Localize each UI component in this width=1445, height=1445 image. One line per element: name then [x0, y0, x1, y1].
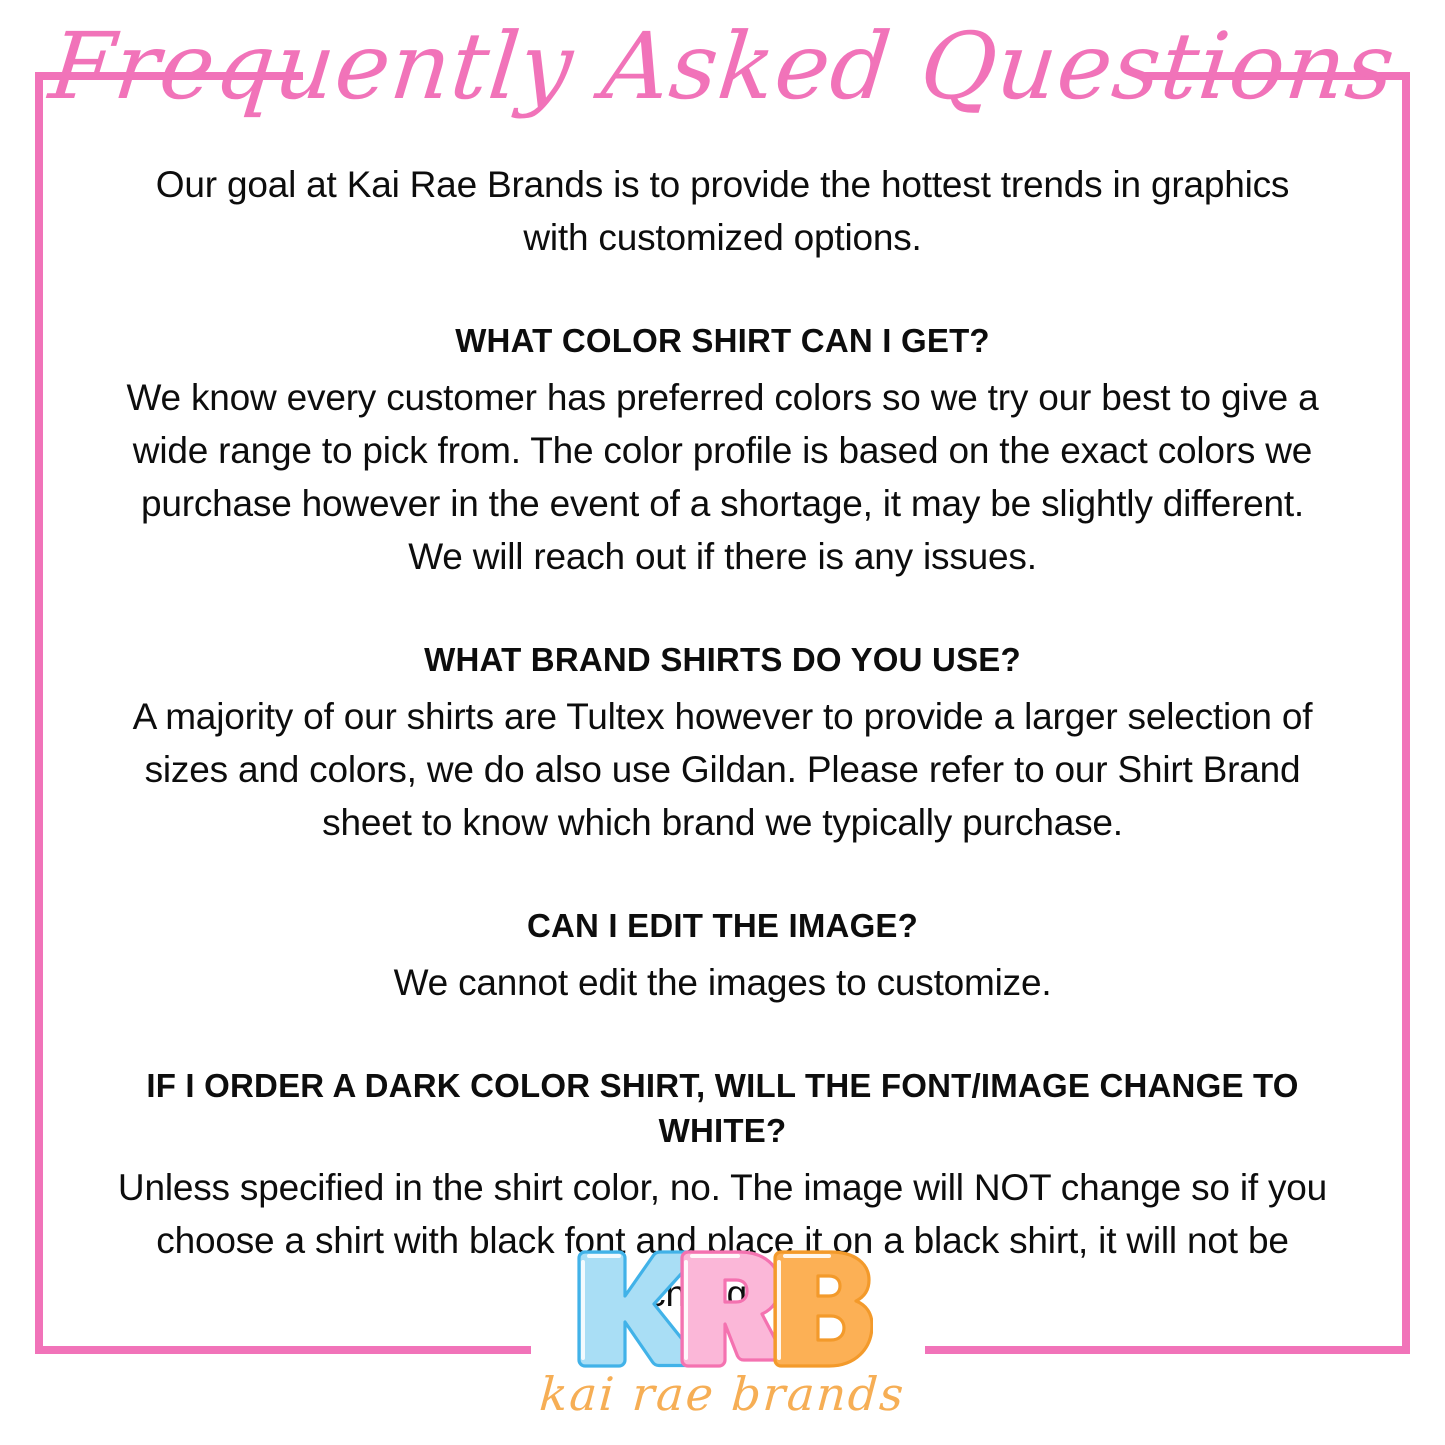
page-title: Frequently Asked Questions — [0, 8, 1445, 126]
faq-question: WHAT COLOR SHIRT CAN I GET? — [108, 318, 1338, 363]
frame-left-segment — [35, 72, 43, 1354]
faq-question: WHAT BRAND SHIRTS DO YOU USE? — [108, 637, 1338, 682]
frame-right-segment — [1402, 72, 1410, 1354]
faq-content: Our goal at Kai Rae Brands is to provide… — [90, 158, 1355, 1320]
brand-logo: kai rae brands — [0, 1246, 1445, 1422]
faq-question: IF I ORDER A DARK COLOR SHIRT, WILL THE … — [108, 1063, 1338, 1153]
brand-tagline: kai rae brands — [0, 1366, 1445, 1422]
faq-answer: We cannot edit the images to customize. — [115, 956, 1330, 1009]
faq-answer: A majority of our shirts are Tultex howe… — [115, 690, 1330, 849]
faq-item-1: WHAT COLOR SHIRT CAN I GET? We know ever… — [90, 318, 1355, 583]
logo-letter-r-icon — [682, 1252, 784, 1366]
logo-letter-b-icon — [775, 1252, 872, 1366]
intro-paragraph: Our goal at Kai Rae Brands is to provide… — [133, 158, 1313, 264]
faq-page: Frequently Asked Questions Our goal at K… — [0, 0, 1445, 1445]
faq-answer: We know every customer has preferred col… — [115, 371, 1330, 583]
faq-question: CAN I EDIT THE IMAGE? — [108, 903, 1338, 948]
krb-logo-icon — [573, 1246, 873, 1372]
faq-item-3: CAN I EDIT THE IMAGE? We cannot edit the… — [90, 903, 1355, 1009]
faq-item-2: WHAT BRAND SHIRTS DO YOU USE? A majority… — [90, 637, 1355, 849]
